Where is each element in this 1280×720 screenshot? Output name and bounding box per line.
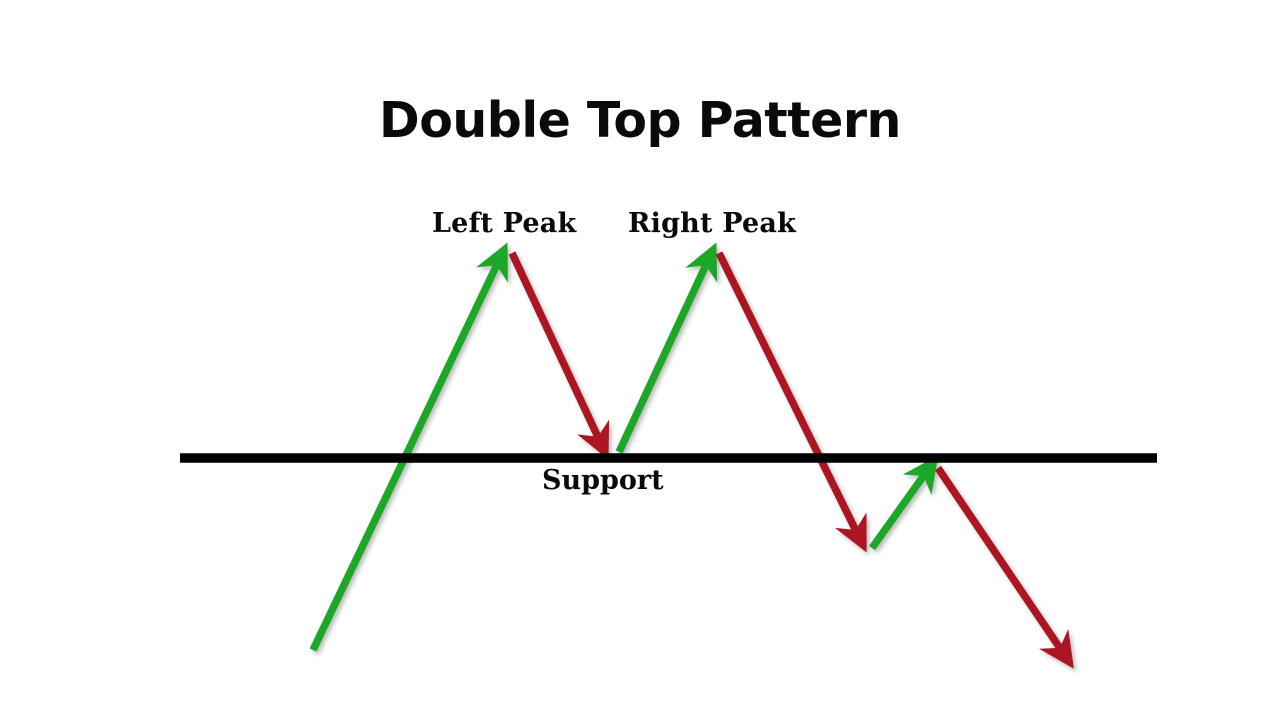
segment-breakdown-through-support xyxy=(719,253,862,543)
double-top-pattern-diagram: Double Top Pattern Left Peak Right Peak … xyxy=(0,0,1280,720)
pattern-chart-canvas xyxy=(0,0,1280,720)
segment-rally-to-right-peak xyxy=(619,252,712,452)
segment-decline-to-support xyxy=(512,253,604,450)
segment-final-decline xyxy=(938,468,1068,660)
segment-retest-bounce xyxy=(872,464,932,548)
segment-initial-advance xyxy=(313,252,503,650)
